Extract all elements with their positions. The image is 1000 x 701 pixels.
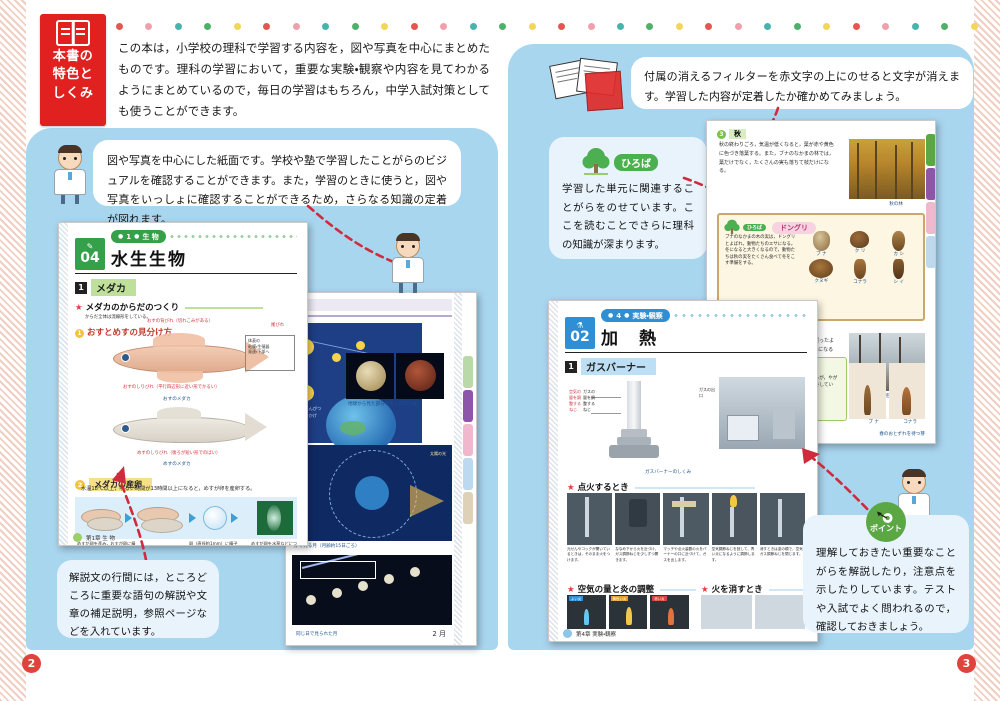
acorn-label: シ イ: [880, 279, 917, 285]
arrow-annotation-to-page: [110, 460, 180, 570]
title-line-1: 本書の: [40, 48, 106, 66]
ignition-photo-sequence: [567, 493, 805, 545]
decorative-dot: [794, 23, 801, 30]
autumn-side-tabs: [926, 134, 936, 268]
decorative-dot: [204, 23, 211, 30]
decorative-dot: [145, 23, 152, 30]
acorn-label: ブ ナ: [803, 251, 840, 257]
flame-label-yellow: 黄色い炎: [611, 596, 629, 601]
heat-section-heading: 1 ガスバーナー: [565, 358, 807, 375]
ignition-step-captions: 元せんやコックが開いているときは，そのまま火をつけます。 ななめ下から火を近づけ…: [567, 547, 805, 577]
flow-caption-3: めすが卵を水草などにつける。: [251, 541, 301, 546]
male-medaka-caption: おすのメダカ: [163, 396, 191, 402]
star-heading-1: ★ メダカのからだのつくり: [75, 301, 297, 313]
tree-icon-small: [724, 219, 740, 236]
autumn-body-text: 秋の終わりごろ，気温が低くなると，葉が赤や黄色に色づき落葉する。また，ブナのなか…: [719, 141, 837, 176]
burner-figure-caption: ガスバーナーのしくみ: [645, 469, 691, 475]
flow-caption-2: 卵（直径約1mm）に精子が入る。: [189, 541, 241, 546]
heat-page-gutter: [549, 301, 558, 641]
moon-photo-total: [396, 353, 444, 399]
bud-specimen-photos: [849, 363, 925, 419]
book-spread: 本書の 特色と しくみ この本は，小学校の理科で学習する内容を，図や写真を中心に…: [0, 0, 1000, 701]
heat-section-name: ガスバーナー: [581, 358, 656, 375]
decorative-dot: [764, 23, 771, 30]
decorative-dot: [234, 23, 241, 30]
acorn-label: コナラ: [842, 279, 879, 285]
heat-star-heading-2: ★ 空気の量と炎の調整: [567, 583, 696, 595]
female-medaka-illustration: [101, 405, 271, 453]
spread-title-tab: 本書の 特色と しくみ: [40, 14, 106, 126]
bud-photo-caption: 春のおとずれを待つ芽: [879, 431, 925, 437]
fin-label-anal: おすのしりびれ（平行四辺形に近い形でかるい）: [123, 385, 220, 392]
bud-caption-right: コナラ: [903, 419, 917, 425]
biology-page-gutter: [59, 223, 68, 545]
decorative-dot: [823, 23, 830, 30]
moon-photo-partial: [346, 353, 394, 399]
heat-page-footer: 第4章 実験・観察: [563, 629, 616, 638]
acorn-specimen-grid: ブ ナ ク リ カ シ クヌギ コナラ シ イ: [803, 231, 917, 285]
moon-phase-strip: [292, 555, 452, 625]
acorn-label: カ シ: [880, 251, 917, 257]
sample-page-heating: ⚗ 02 ● 4 ● 実験・観察 加: [548, 300, 818, 642]
autumn-forest-photo: [849, 139, 925, 199]
scientist-character-pointer: [392, 234, 424, 283]
heat-title-rule: [565, 352, 807, 353]
section-heading-1: 1 メダカ: [75, 279, 297, 296]
page-number-right: 3: [957, 654, 976, 673]
decorative-dot: [440, 23, 447, 30]
autumn-photo-caption: 秋の林: [889, 201, 903, 207]
decorative-dot: [499, 23, 506, 30]
intro-paragraph: この本は，小学校の理科で学習する内容を，図や写真を中心にまとめたものです。理科の…: [118, 38, 490, 122]
decorative-dot: [971, 23, 978, 30]
burner-label-gas: ガスの量を調整するねじ: [583, 389, 597, 413]
decorative-dot: [853, 23, 860, 30]
left-margin-hatch: [0, 0, 26, 701]
extinguish-photos: [701, 595, 805, 629]
flame-comparison-photos: よい炎 黄色い炎 赤い炎: [567, 595, 689, 629]
decorative-dot: [882, 23, 889, 30]
burner-label-outlet: ガスの出口: [699, 387, 715, 399]
chapter-label: 生 物: [142, 232, 158, 242]
fin-label-dorsal: おすの背びれ（切れこみがある）: [147, 319, 213, 326]
annotation-callout-text: 解説文の行間には，ところどころに重要な語句の解説や文章の補足説明，参照ページなど…: [60, 563, 216, 649]
astronomy-footer-label: 2 月: [432, 629, 446, 639]
right-margin-hatch: [974, 0, 1000, 701]
decorative-dot-row: [116, 22, 978, 30]
tree-icon: [582, 147, 610, 177]
flame-label-red: 赤い炎: [652, 596, 666, 601]
red-filter-callout: 付属の消えるフィルターを赤文字の上にのせると文字が消えます。学習した内容が定着し…: [634, 60, 970, 106]
heat-footer-label: 第4章 実験・観察: [576, 630, 616, 638]
scientist-character-left: [54, 146, 86, 195]
decorative-dot: [411, 23, 418, 30]
moon-side-tabs: [463, 356, 473, 524]
acorn-label: ク リ: [842, 248, 879, 254]
heat-unit-number-badge: ⚗ 02: [565, 317, 595, 349]
decorative-dot: [470, 23, 477, 30]
heat-footer-dot: [563, 629, 572, 638]
decorative-dot: [588, 23, 595, 30]
decorative-dot: [705, 23, 712, 30]
point-badge-label: ポイント: [870, 523, 902, 534]
hiroba-badge-label: ひろば: [614, 154, 658, 171]
title-line-3: しくみ: [40, 85, 106, 103]
title-rule: [75, 273, 297, 274]
section-name: メダカ: [91, 279, 136, 296]
decorative-dot: [116, 23, 123, 30]
sample-page-water-life: ✎ 04 ● 1 ● 生 物 水生生物: [58, 222, 308, 546]
fin-label-tail: 尾びれ: [271, 323, 284, 330]
hiroba-inset-text: ブナのなかまの木の実は，ドングリとよばれ，動物たちのエサになる。冬になると大きく…: [725, 235, 797, 268]
bud-caption-left: ブ ナ: [868, 419, 879, 425]
moon-photo-caption: 地球から見た部分月食と皆既月食: [348, 401, 448, 407]
decorative-dot: [293, 23, 300, 30]
decorative-dot: [646, 23, 653, 30]
heat-chapter-chip: ● 4 ● 実験・観察: [601, 309, 670, 322]
decorative-dot: [941, 23, 948, 30]
decorative-dot: [735, 23, 742, 30]
heat-star-heading-1: ★ 点火するとき: [567, 481, 755, 493]
page-number-left: 2: [22, 654, 41, 673]
fin-label-female: めすのしりびれ（後ろが短い形でのばい）: [137, 451, 220, 458]
notebook-and-red-filter-icon: [552, 60, 630, 110]
decorative-dot: [381, 23, 388, 30]
open-book-icon: [56, 20, 90, 46]
decorative-dot: [322, 23, 329, 30]
decorative-dot: [175, 23, 182, 30]
gas-burner-diagram: [581, 377, 693, 465]
section-number: 1: [75, 282, 87, 294]
chapter-number: 1: [126, 233, 131, 241]
sample-page-moon: 月のえんぴつ地球のかげ 地球から見た部分月食と皆既月食 太陽の光 かく光る月（月…: [285, 292, 477, 646]
point-callout: ポイント 理解しておきたい重要なことがらを解説したり，注意点を示したりしています…: [806, 518, 966, 630]
decorative-dot: [558, 23, 565, 30]
flame-label-good: よい炎: [569, 596, 583, 601]
annotation-callout: 解説文の行間には，ところどころに重要な語句の解説や文章の補足説明，参照ページなど…: [60, 563, 216, 635]
heat-unit-title: 加 熱: [601, 324, 807, 349]
acorn-label: クヌギ: [803, 278, 840, 284]
decorative-dot: [263, 23, 270, 30]
unit-title: 水生生物: [111, 245, 297, 270]
decorative-dot: [617, 23, 624, 30]
heat-unit-number: 02: [570, 330, 589, 344]
point-badge: ポイント: [806, 500, 966, 542]
heat-star-heading-3: ★ 火を消すとき: [701, 583, 805, 595]
unit-number: 04: [80, 251, 99, 265]
decorative-dot: [529, 23, 536, 30]
autumn-section-number: 3: [717, 130, 726, 139]
biology-page-footer: 第1章 生 物: [73, 533, 115, 542]
heat-section-number: 1: [565, 361, 577, 373]
autumn-section-name: 秋: [729, 129, 746, 139]
burner-setup-photo: [719, 377, 805, 449]
target-dartboard-icon: ポイント: [866, 502, 906, 542]
visual-layout-callout: 図や写真を中心にした紙面です。学校や塾で学習したことがらのビジュアルを確認するこ…: [96, 143, 458, 203]
heat-chip-dots: [674, 314, 807, 317]
hiroba-inset-badge: ひろば: [743, 224, 766, 231]
unit-number-badge: ✎ 04: [75, 238, 105, 270]
moon-strip-caption: 同じ日で見られた月: [296, 631, 337, 637]
chapter-chip: ● 1 ● 生 物: [111, 230, 166, 243]
chip-dotted-rule: [170, 235, 297, 238]
decorative-dot: [676, 23, 683, 30]
decorative-dot: [352, 23, 359, 30]
point-callout-text: 理解しておきたい重要なことがらを解説したり，注意点を示したりしています。テストや…: [806, 542, 966, 639]
footer-color-dot: [73, 533, 82, 542]
title-line-2: 特色と: [40, 66, 106, 84]
burner-label-air: 空気の量を調整するねじ: [569, 389, 583, 413]
heat-chapter-number: 4: [616, 312, 621, 320]
moon-page-gutter: [454, 293, 462, 645]
decorative-dot: [912, 23, 919, 30]
heat-chapter-label: 実験・観察: [632, 311, 662, 321]
red-filter-callout-text: 付属の消えるフィルターを赤文字の上にのせると文字が消えます。学習した内容が定着し…: [634, 60, 970, 113]
